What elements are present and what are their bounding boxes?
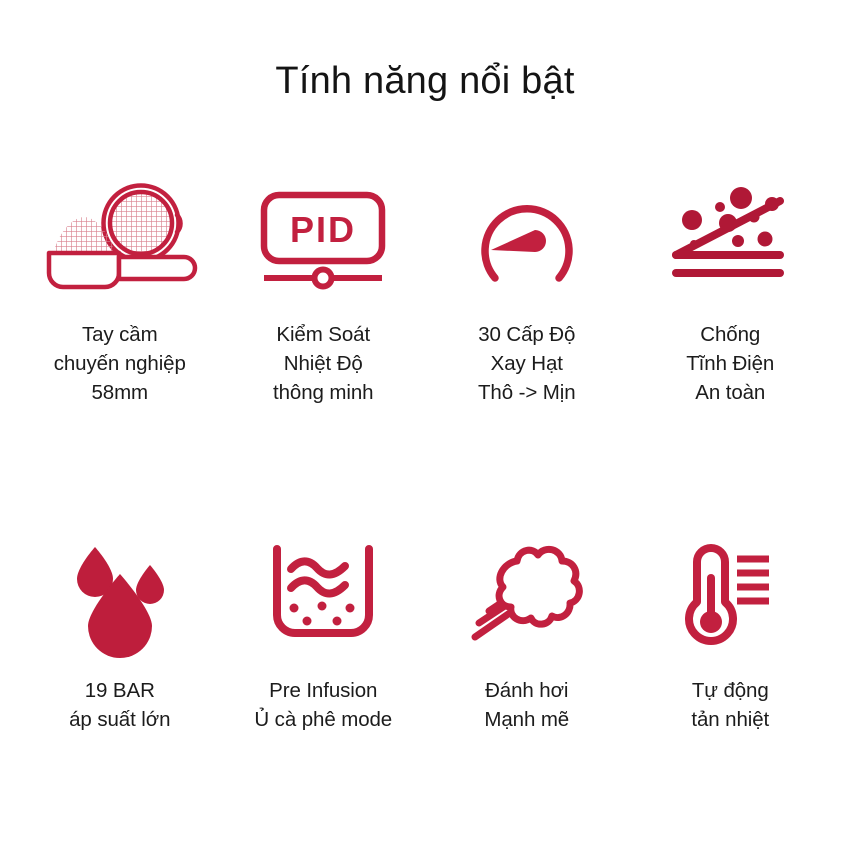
pid-label: PID <box>290 209 356 250</box>
feature-caption: Chống Tĩnh Điện An toàn <box>686 320 774 407</box>
feature-row-1: Tay cầm chuyến nghiệp 58mm PID Kiểm Soát… <box>0 180 850 418</box>
feature-caption: 19 BAR áp suất lớn <box>69 676 170 734</box>
anti-static-particles-icon <box>668 180 792 298</box>
feature-item-anti-static: Chống Tĩnh Điện An toàn <box>629 180 833 407</box>
feature-row-2: 19 BAR áp suất lớn Pre Inf <box>0 536 850 734</box>
feature-item-grind-levels: 30 Cấp Độ Xay Hạt Thô -> Mịn <box>425 180 629 407</box>
feature-caption: 30 Cấp Độ Xay Hạt Thô -> Mịn <box>478 320 576 407</box>
feature-caption: Kiểm Soát Nhiệt Độ thông minh <box>273 320 373 407</box>
thermometer-icon <box>675 536 785 654</box>
water-basin-icon <box>267 536 379 654</box>
portafilter-icon <box>36 180 204 298</box>
feature-caption: Đánh hơi Mạnh mẽ <box>484 676 569 734</box>
feature-item-steam: Đánh hơi Mạnh mẽ <box>425 536 629 734</box>
steam-cloud-icon <box>469 536 585 654</box>
gauge-icon <box>469 180 585 298</box>
feature-caption: Tay cầm chuyến nghiệp 58mm <box>54 320 186 407</box>
feature-item-pid-control: PID Kiểm Soát Nhiệt Độ thông minh <box>222 180 426 407</box>
feature-item-pressure: 19 BAR áp suất lớn <box>18 536 222 734</box>
feature-item-portafilter: Tay cầm chuyến nghiệp 58mm <box>18 180 222 407</box>
feature-item-auto-heat-dissipation: Tự động tản nhiệt <box>629 536 833 734</box>
feature-item-pre-infusion: Pre Infusion Ủ cà phê mode <box>222 536 426 734</box>
features-grid: Tay cầm chuyến nghiệp 58mm PID Kiểm Soát… <box>0 106 850 850</box>
feature-highlights-page: Tính năng nổi bật <box>0 0 850 850</box>
feature-caption: Tự động tản nhiệt <box>691 676 769 734</box>
pid-display-icon: PID <box>258 180 388 298</box>
water-droplets-icon <box>66 536 174 654</box>
feature-caption: Pre Infusion Ủ cà phê mode <box>254 676 392 734</box>
page-title: Tính năng nổi bật <box>0 0 850 106</box>
